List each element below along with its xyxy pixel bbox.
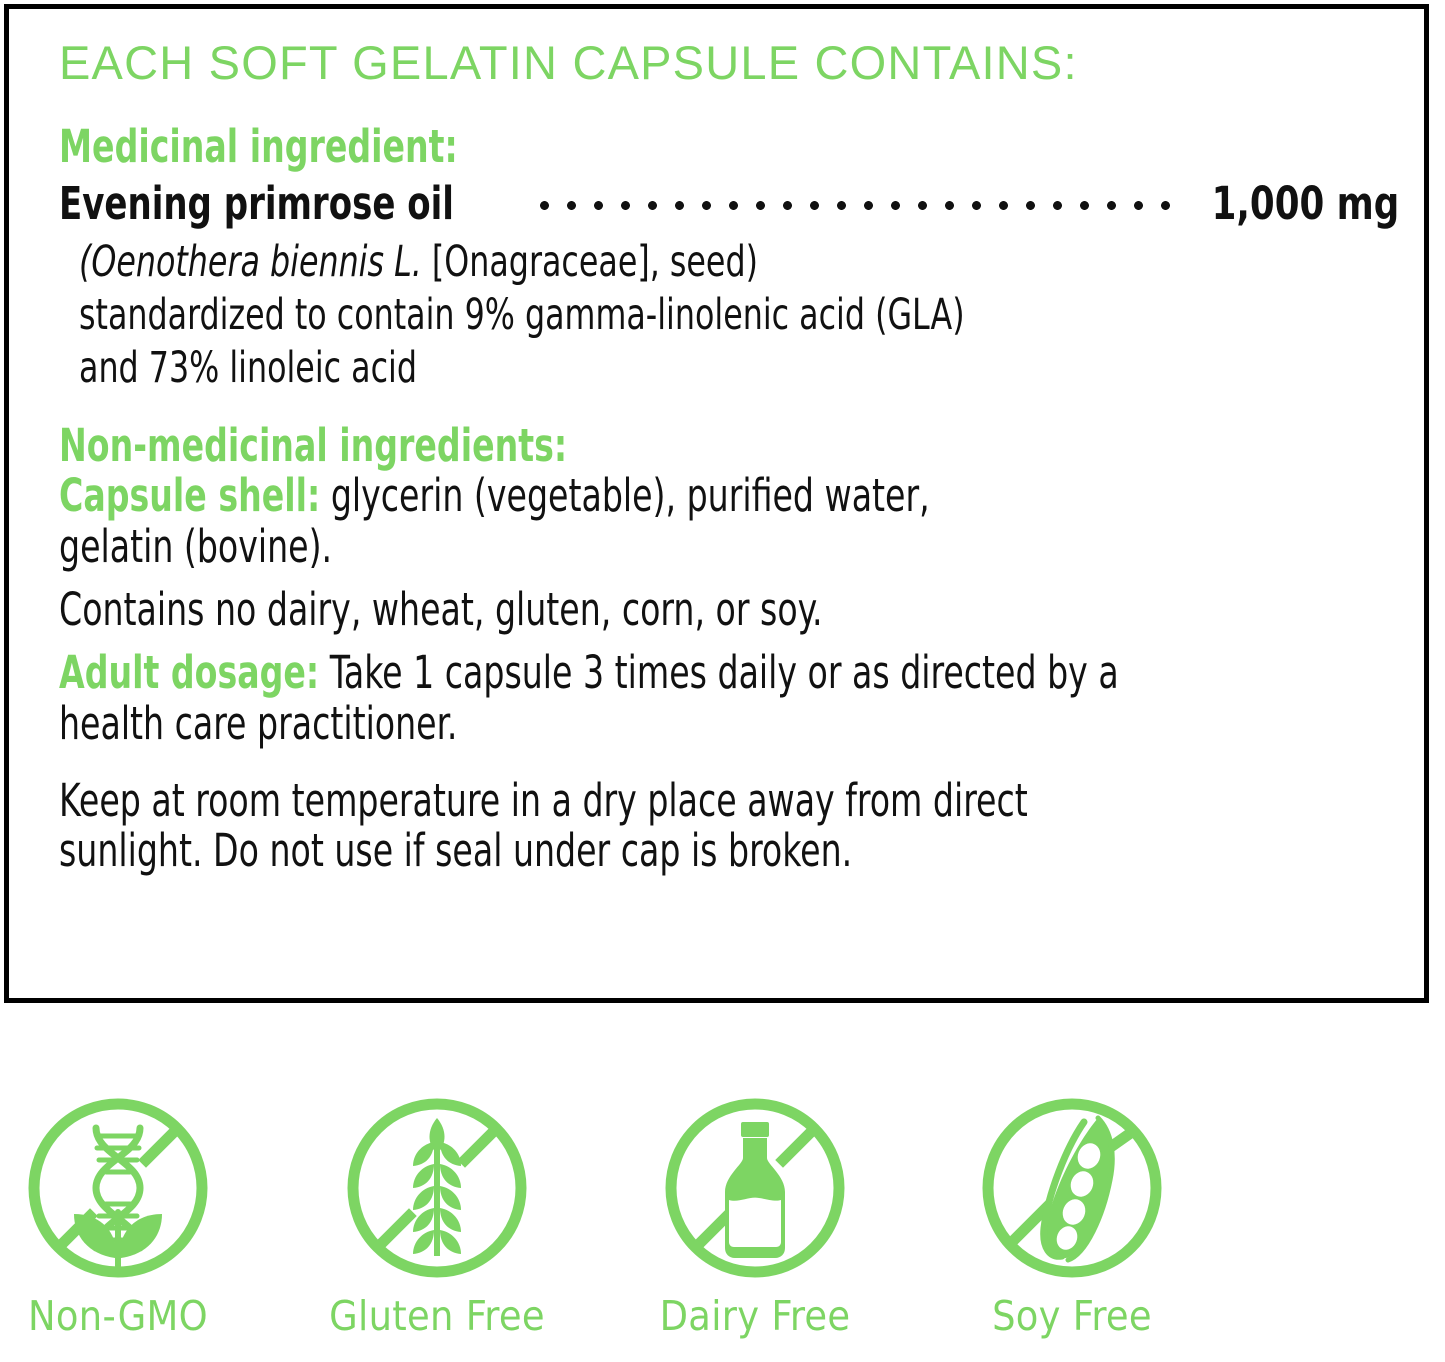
badge-dairy-free: Dairy Free	[639, 1085, 871, 1337]
capsule-shell-block: Capsule shell: glycerin (vegetable), pur…	[59, 471, 1402, 573]
botanical-latin-name: (Oenothera biennis L.	[79, 237, 422, 287]
badge-soy-free: Soy Free	[956, 1085, 1188, 1337]
medicinal-ingredient-name: Evening primrose oil	[59, 177, 454, 230]
badge-label-gluten-free: Gluten Free	[321, 1296, 553, 1337]
allergen-statement-block: Contains no dairy, wheat, gluten, corn, …	[59, 585, 1402, 636]
storage-line-1: Keep at room temperature in a dry place …	[59, 776, 1160, 827]
non-medicinal-ingredients-label: Non-medicinal ingredients:	[59, 421, 1160, 471]
storage-instructions-block: Keep at room temperature in a dry place …	[59, 776, 1402, 878]
non-gmo-icon	[2, 1085, 234, 1290]
medicinal-ingredient-row: Evening primrose oil 1,000 mg	[59, 174, 1399, 230]
adult-dosage-label: Adult dosage:	[59, 646, 319, 699]
botanical-source-line: (Oenothera biennis L. [Onagraceae], seed…	[79, 236, 1164, 289]
capsule-shell-line-2: gelatin (bovine).	[59, 522, 1160, 573]
badge-label-dairy-free: Dairy Free	[639, 1296, 871, 1337]
adult-dosage-line-2: health care practitioner.	[59, 699, 1160, 750]
badge-label-non-gmo: Non-GMO	[2, 1296, 234, 1337]
capsule-shell-label: Capsule shell:	[59, 469, 320, 522]
allergen-statement: Contains no dairy, wheat, gluten, corn, …	[59, 585, 1160, 636]
medicinal-ingredient-amount: 1,000 mg	[1211, 177, 1399, 230]
dot-leader	[531, 174, 1180, 219]
badge-non-gmo: Non-GMO	[2, 1085, 234, 1337]
soy-free-icon	[956, 1085, 1188, 1290]
panel-heading: EACH SOFT GELATIN CAPSULE CONTAINS:	[59, 39, 1402, 86]
adult-dosage-value: Take 1 capsule 3 times daily or as direc…	[319, 646, 1119, 699]
supplement-facts-panel: EACH SOFT GELATIN CAPSULE CONTAINS: Medi…	[4, 4, 1429, 1003]
badge-gluten-free: Gluten Free	[321, 1085, 553, 1337]
certification-badge-row: Non-GMO	[0, 1085, 1445, 1360]
adult-dosage-block: Adult dosage: Take 1 capsule 3 times dai…	[59, 648, 1402, 750]
storage-line-2: sunlight. Do not use if seal under cap i…	[59, 826, 1160, 877]
capsule-shell-value: glycerin (vegetable), purified water,	[320, 469, 929, 522]
standardization-line-2: and 73% linoleic acid	[79, 342, 1164, 395]
dairy-free-icon	[639, 1085, 871, 1290]
standardization-line-1: standardized to contain 9% gamma-linolen…	[79, 289, 1164, 342]
botanical-source-block: (Oenothera biennis L. [Onagraceae], seed…	[79, 236, 1402, 395]
badge-label-soy-free: Soy Free	[956, 1296, 1188, 1337]
medicinal-ingredient-label: Medicinal ingredient:	[59, 122, 1160, 172]
supplement-label: EACH SOFT GELATIN CAPSULE CONTAINS: Medi…	[0, 0, 1445, 1362]
gluten-free-icon	[321, 1085, 553, 1290]
botanical-family-part: [Onagraceae], seed)	[422, 237, 758, 287]
